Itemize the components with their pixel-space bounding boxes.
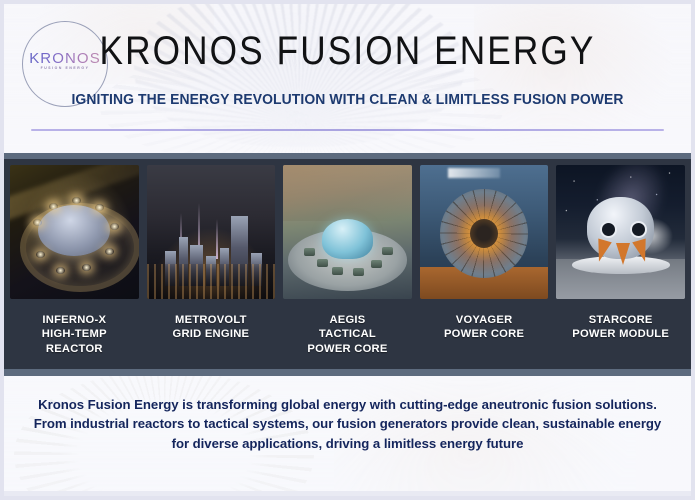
photo-detail-spire — [216, 219, 218, 259]
product-card-label: INFERNO-X HIGH-TEMP REACTOR — [42, 313, 107, 356]
photo-detail-lamp — [95, 204, 104, 211]
lunar-power-module-photo — [556, 165, 685, 299]
photo-detail-pod — [317, 259, 328, 267]
photo-detail-dome — [322, 219, 373, 259]
page-title: KRONOS FUSION ENERGY — [45, 4, 650, 71]
aerial-night-reactor-photo — [10, 165, 139, 299]
slide-canvas: KRONOS FUSION ENERGY KRONOS FUSION ENERG… — [0, 0, 695, 500]
product-card-voyager[interactable]: VOYAGER POWER CORE — [420, 165, 549, 369]
desert-dome-installation-photo — [283, 165, 412, 299]
product-card-metrovolt[interactable]: METROVOLT GRID ENGINE — [147, 165, 276, 369]
photo-detail-lamp — [72, 197, 81, 204]
photo-detail-core — [470, 219, 498, 248]
page-subtitle: IGNITING THE ENERGY REVOLUTION WITH CLEA… — [18, 71, 678, 108]
photo-detail-porthole — [630, 221, 647, 238]
product-card-label: VOYAGER POWER CORE — [444, 313, 524, 342]
photo-detail-ceiling-light — [448, 168, 499, 179]
photo-detail-ridge — [283, 165, 412, 221]
product-card-label: METROVOLT GRID ENGINE — [173, 313, 250, 342]
photo-detail-dome — [38, 205, 110, 256]
product-card-starcore[interactable]: STARCORE POWER MODULE — [556, 165, 685, 369]
photo-detail-pod — [353, 268, 364, 276]
photo-detail-landing-leg — [616, 243, 630, 265]
photo-detail-lamp — [49, 203, 58, 210]
photo-detail-lamp — [33, 219, 42, 226]
photo-detail-pod — [382, 247, 393, 255]
product-card-label: AEGIS TACTICAL POWER CORE — [307, 313, 387, 356]
photo-detail-lamp — [110, 223, 119, 230]
header-section: KRONOS FUSION ENERGY KRONOS FUSION ENERG… — [4, 4, 691, 153]
footer-paragraph: Kronos Fusion Energy is transforming glo… — [4, 376, 691, 453]
photo-detail-street-lights — [147, 264, 276, 299]
photo-detail-lamp — [36, 251, 45, 258]
header-divider — [31, 129, 664, 131]
photo-detail-pod — [304, 248, 315, 256]
product-card-label: STARCORE POWER MODULE — [572, 313, 669, 342]
photo-detail-pod — [332, 267, 343, 275]
night-city-skyline-photo — [147, 165, 276, 299]
photo-detail-pod — [371, 260, 382, 268]
footer-section: Kronos Fusion Energy is transforming glo… — [4, 376, 691, 491]
product-card-aegis[interactable]: AEGIS TACTICAL POWER CORE — [283, 165, 412, 369]
photo-detail-lamp — [56, 267, 65, 274]
product-band: INFERNO-X HIGH-TEMP REACTOR METROVOLT GR… — [4, 153, 691, 376]
industrial-fusion-core-photo — [420, 165, 549, 299]
product-card-inferno-x[interactable]: INFERNO-X HIGH-TEMP REACTOR — [10, 165, 139, 369]
